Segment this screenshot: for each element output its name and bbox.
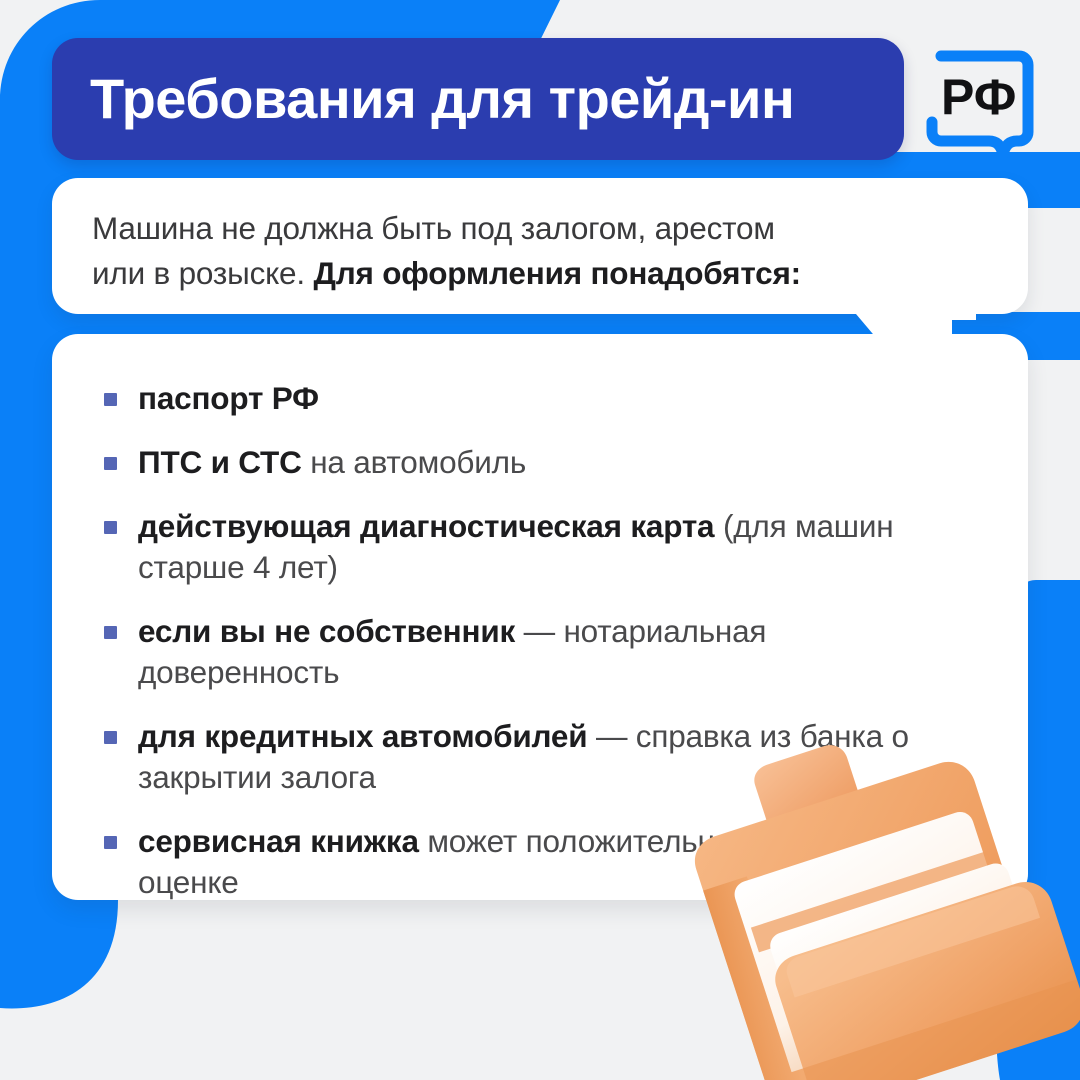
intro-text: Машина не должна быть под залогом, арест… [92, 206, 988, 296]
list-item-text: паспорт РФ [138, 378, 319, 419]
infographic-canvas: Требования для трейд-ин РФ Машина не дол… [0, 0, 1080, 1080]
bullet-square-icon [104, 521, 117, 534]
rf-logo-text: РФ [941, 69, 1016, 125]
list-item: паспорт РФ [104, 378, 976, 419]
list-item: действующая диагностическая карта (для м… [104, 506, 976, 588]
list-item: ПТС и СТС на автомобиль [104, 442, 976, 483]
intro-line-2-bold: Для оформления понадобятся: [313, 255, 800, 291]
list-item-bold: ПТС и СТС [138, 444, 302, 480]
intro-card-tail [856, 300, 976, 364]
bullet-square-icon [104, 393, 117, 406]
list-item-bold: сервисная книжка [138, 823, 419, 859]
title-banner: Требования для трейд-ин [52, 38, 904, 160]
requirements-card: паспорт РФ ПТС и СТС на автомобиль дейст… [52, 334, 1028, 900]
list-item-text: для кредитных автомобилей — справка из б… [138, 716, 958, 798]
page-title: Требования для трейд-ин [90, 71, 794, 127]
list-item-bold: действующая диагностическая карта [138, 508, 714, 544]
list-item: для кредитных автомобилей — справка из б… [104, 716, 976, 798]
list-item: сервисная книжка может положительно отра… [104, 821, 976, 903]
list-item: если вы не собственник — нотариальная до… [104, 611, 976, 693]
intro-line-2-normal: или в розыске. [92, 255, 313, 291]
requirements-list: паспорт РФ ПТС и СТС на автомобиль дейст… [104, 378, 976, 903]
bullet-square-icon [104, 731, 117, 744]
list-item-text: действующая диагностическая карта (для м… [138, 506, 958, 588]
bullet-square-icon [104, 457, 117, 470]
explain-rf-logo[interactable]: РФ [925, 36, 1035, 160]
list-item-text: ПТС и СТС на автомобиль [138, 442, 526, 483]
bullet-square-icon [104, 626, 117, 639]
list-item-bold: если вы не собственник [138, 613, 515, 649]
list-item-bold: паспорт РФ [138, 380, 319, 416]
bullet-square-icon [104, 836, 117, 849]
intro-card: Машина не должна быть под залогом, арест… [52, 178, 1028, 314]
list-item-bold: для кредитных автомобилей [138, 718, 587, 754]
intro-line-1: Машина не должна быть под залогом, арест… [92, 210, 775, 246]
list-item-text: сервисная книжка может положительно отра… [138, 821, 958, 903]
list-item-text: если вы не собственник — нотариальная до… [138, 611, 958, 693]
list-item-normal: на автомобиль [302, 444, 526, 480]
